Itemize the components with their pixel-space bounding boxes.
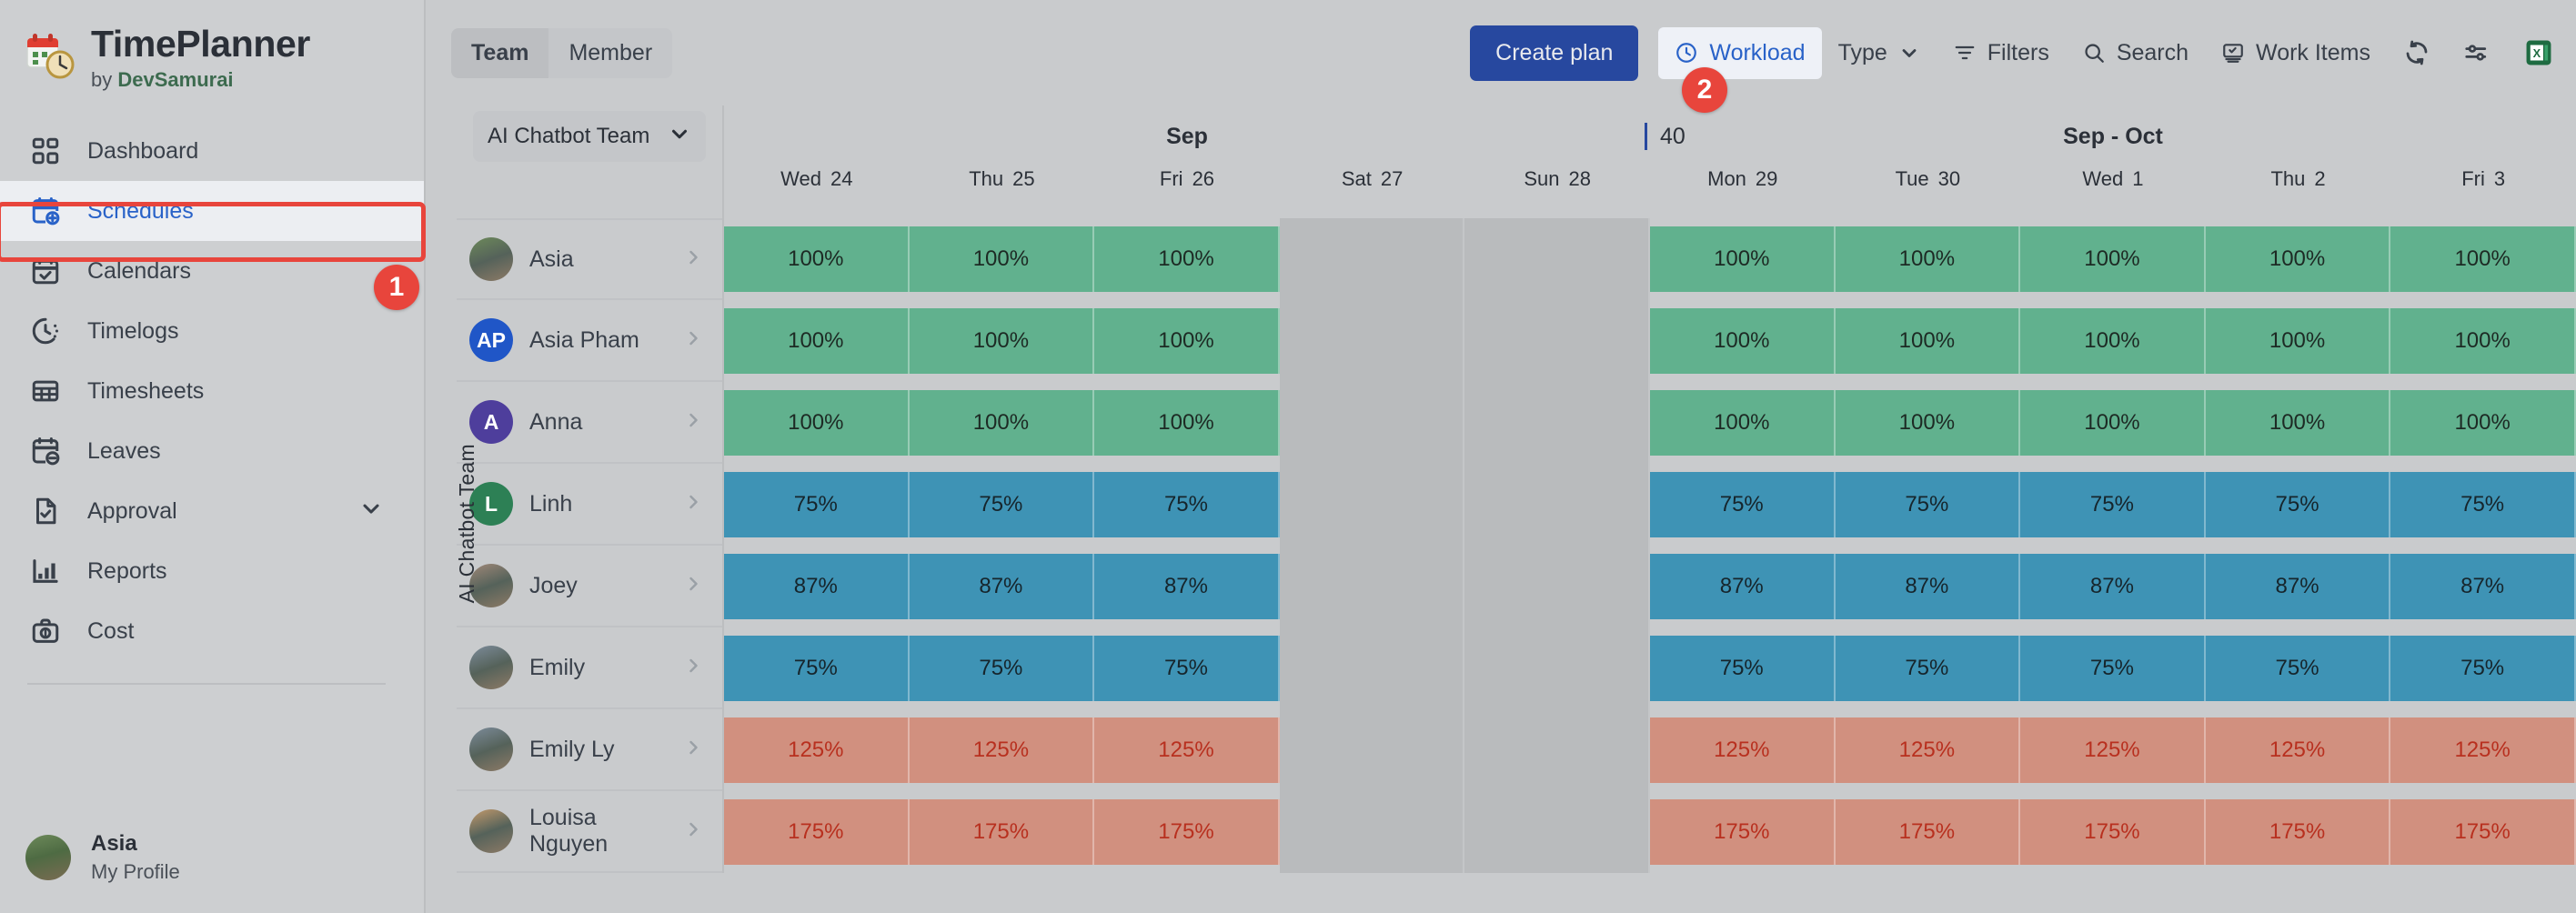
member-row[interactable]: APAsia Pham [457, 300, 722, 382]
filters-label: Filters [1987, 40, 2049, 66]
member-name: Emily [529, 655, 666, 681]
workload-cell[interactable]: 100% [2206, 308, 2391, 374]
work-items-label: Work Items [2256, 40, 2370, 66]
workload-cell[interactable] [1464, 791, 1650, 873]
workload-cell[interactable]: 75% [1650, 636, 1836, 701]
sidebar-item-label: Reports [87, 558, 167, 585]
member-row[interactable]: Emily [457, 627, 722, 709]
workload-cell[interactable]: 100% [2390, 226, 2576, 292]
workload-cell[interactable]: 75% [1836, 472, 2021, 537]
workload-cell[interactable] [1280, 791, 1465, 873]
workload-cell[interactable] [1280, 218, 1465, 300]
workload-cell[interactable]: 175% [2020, 799, 2206, 865]
workload-cell[interactable]: 87% [2390, 554, 2576, 619]
workload-cell[interactable]: 175% [910, 799, 1095, 865]
workload-row: 100%100%100%100%100%100%100%100% [724, 382, 2576, 464]
workload-cell[interactable]: 100% [2390, 308, 2576, 374]
sidebar-item-reports[interactable]: Reports [0, 541, 424, 601]
workload-cell[interactable]: 175% [1650, 799, 1836, 865]
workload-cell[interactable]: 100% [2390, 390, 2576, 456]
workload-cell[interactable] [1280, 627, 1465, 709]
months-header: SepSep - Oct 40 [724, 105, 2576, 167]
briefcase-dollar-icon [27, 613, 64, 649]
clock-icon [1675, 41, 1698, 65]
profile-role: My Profile [91, 860, 180, 884]
sidebar-item-calendars[interactable]: Calendars [0, 241, 424, 301]
table-icon [27, 373, 64, 409]
app-window: TimePlanner by DevSamurai Dashboard [0, 0, 2576, 913]
workload-cell[interactable]: 75% [2020, 636, 2206, 701]
chevron-right-icon[interactable] [682, 655, 704, 681]
create-plan-button[interactable]: Create plan [1470, 25, 1638, 81]
toolbar: Team Member Create plan Workload Type [426, 0, 2576, 105]
workload-cell[interactable]: 75% [2206, 472, 2391, 537]
type-dropdown[interactable]: Type [1822, 27, 1937, 79]
member-row[interactable]: Emily Ly [457, 709, 722, 791]
workload-cell[interactable]: 87% [724, 554, 910, 619]
workload-row: 75%75%75%75%75%75%75%75% [724, 627, 2576, 709]
filters-button[interactable]: Filters [1937, 27, 2066, 79]
workload-row: 175%175%175%175%175%175%175%175% [724, 791, 2576, 873]
workload-cell[interactable]: 75% [1650, 472, 1836, 537]
member-name: Asia [529, 246, 666, 273]
workload-cell[interactable] [1464, 300, 1650, 382]
member-name: Louisa Nguyen [529, 805, 666, 858]
chevron-down-icon [1898, 42, 1920, 64]
day-header: Tue30 [1836, 167, 2021, 218]
refresh-icon [2403, 39, 2430, 66]
chevron-right-icon[interactable] [682, 737, 704, 763]
chevron-right-icon[interactable] [682, 327, 704, 354]
workload-cell[interactable]: 75% [2206, 636, 2391, 701]
workload-cell[interactable]: 100% [1836, 308, 2021, 374]
workload-cell[interactable]: 87% [1094, 554, 1280, 619]
workload-cell[interactable]: 175% [2206, 799, 2391, 865]
sidebar-item-approval[interactable]: Approval [0, 481, 424, 541]
chevron-down-icon[interactable] [358, 496, 384, 527]
workload-cell[interactable]: 75% [1836, 636, 2021, 701]
week-number: 40 [1645, 123, 1685, 150]
profile-name: Asia [91, 831, 180, 857]
chevron-right-icon[interactable] [682, 573, 704, 599]
workload-cell[interactable]: 175% [1836, 799, 2021, 865]
workload-cell[interactable] [1280, 464, 1465, 546]
workload-cell[interactable]: 175% [2390, 799, 2576, 865]
week-number-label: 40 [1660, 124, 1685, 150]
workload-cell[interactable]: 75% [1094, 472, 1280, 537]
workload-cell[interactable] [1280, 300, 1465, 382]
sidebar-item-label: Approval [87, 498, 177, 525]
grid-icon [27, 133, 64, 169]
workload-row: 100%100%100%100%100%100%100%100% [724, 218, 2576, 300]
tab-member[interactable]: Member [548, 28, 672, 78]
sidebar-item-schedules[interactable]: Schedules [0, 181, 424, 241]
team-selector-cell: AI Chatbot Team [457, 105, 722, 167]
team-selector-value: AI Chatbot Team [488, 124, 668, 149]
avatar [469, 809, 513, 853]
day-header: Fri3 [2390, 167, 2576, 218]
workload-cell[interactable]: 125% [1094, 717, 1280, 783]
day-header: Sat27 [1280, 167, 1465, 218]
workload-cell[interactable] [1280, 546, 1465, 627]
workload-cell[interactable] [1464, 546, 1650, 627]
workload-row: 75%75%75%75%75%75%75%75% [724, 464, 2576, 546]
sidebar-item-leaves[interactable]: Leaves [0, 421, 424, 481]
month-label: Sep [724, 124, 1650, 150]
member-name: Joey [529, 573, 666, 599]
app-logo-icon [25, 31, 75, 80]
sidebar: TimePlanner by DevSamurai Dashboard [0, 0, 426, 913]
main-area: Team Member Create plan Workload Type [426, 0, 2576, 913]
workload-cell[interactable]: 87% [1650, 554, 1836, 619]
workload-cell[interactable]: 125% [724, 717, 910, 783]
workload-cell[interactable]: 100% [1094, 226, 1280, 292]
workload-cell[interactable]: 75% [724, 636, 910, 701]
chevron-right-icon[interactable] [682, 409, 704, 436]
timeline-column: SepSep - Oct 40 Wed24Thu25Fri26Sat27Sun2… [724, 105, 2576, 873]
sidebar-divider [27, 683, 386, 685]
member-name: Asia Pham [529, 327, 666, 354]
workload-cell[interactable] [1464, 382, 1650, 464]
document-check-icon [27, 493, 64, 529]
day-header: Thu25 [910, 167, 1095, 218]
tab-team[interactable]: Team [451, 28, 548, 78]
member-name: Linh [529, 491, 666, 517]
workload-cell[interactable] [1280, 709, 1465, 791]
toolbar-actions: Create plan Workload Type [1470, 25, 2554, 81]
avatar [25, 835, 71, 880]
workload-row: 100%100%100%100%100%100%100%100% [724, 300, 2576, 382]
workload-cell[interactable]: 75% [2390, 472, 2576, 537]
member-row[interactable]: LLinh [457, 464, 722, 546]
workload-cell[interactable]: 125% [2390, 717, 2576, 783]
member-name: Anna [529, 409, 666, 436]
week-divider [1645, 123, 1647, 150]
sidebar-item-timesheets[interactable]: Timesheets [0, 361, 424, 421]
member-row[interactable]: Louisa Nguyen [457, 791, 722, 873]
workload-button[interactable]: Workload [1658, 27, 1821, 79]
bar-chart-icon [27, 553, 64, 589]
workload-cell[interactable]: 100% [2206, 390, 2391, 456]
workload-cell[interactable]: 100% [1650, 226, 1836, 292]
days-header: Wed24Thu25Fri26Sat27Sun28Mon29Tue30Wed1T… [724, 167, 2576, 218]
workload-cell[interactable]: 100% [1650, 390, 1836, 456]
sidebar-profile[interactable]: Asia My Profile [0, 831, 180, 884]
sidebar-item-label: Timelogs [87, 318, 179, 345]
calendar-minus-icon [27, 433, 64, 469]
workload-cell[interactable]: 175% [724, 799, 910, 865]
workload-cell[interactable]: 100% [910, 226, 1095, 292]
svg-text:X: X [2533, 46, 2541, 60]
workload-cell[interactable]: 100% [1094, 390, 1280, 456]
annotation-badge-2: 2 [1682, 67, 1727, 113]
workload-cell[interactable]: 75% [2020, 472, 2206, 537]
calendar-check-icon [27, 253, 64, 289]
chevron-down-icon [668, 122, 691, 152]
chevron-right-icon[interactable] [682, 491, 704, 517]
app-subtitle: by DevSamurai [91, 70, 310, 90]
day-header: Wed24 [724, 167, 910, 218]
filter-icon [1953, 41, 1977, 65]
chevron-right-icon[interactable] [682, 246, 704, 273]
workload-label: Workload [1709, 40, 1805, 66]
workload-cell[interactable]: 125% [910, 717, 1095, 783]
type-label: Type [1838, 40, 1887, 66]
search-icon [2082, 41, 2106, 65]
annotation-badge-1: 1 [374, 265, 419, 310]
sidebar-item-label: Leaves [87, 438, 161, 465]
member-row[interactable]: AAnna [457, 382, 722, 464]
sidebar-item-timelogs[interactable]: Timelogs [0, 301, 424, 361]
workload-cell[interactable]: 100% [1650, 308, 1836, 374]
group-rail: AI Chatbot Team [451, 269, 482, 778]
workload-cell[interactable]: 100% [2020, 390, 2206, 456]
workload-cell[interactable]: 100% [910, 390, 1095, 456]
workload-cell[interactable]: 100% [724, 308, 910, 374]
workload-cell[interactable]: 75% [724, 472, 910, 537]
calendar-add-icon [27, 193, 64, 229]
search-button[interactable]: Search [2066, 27, 2205, 79]
workload-cell[interactable]: 100% [2020, 226, 2206, 292]
members-column: AI Chatbot Team AsiaAPAsia PhamAAnnaLLin… [457, 105, 724, 873]
sidebar-item-label: Calendars [87, 258, 191, 285]
workload-cell[interactable]: 87% [910, 554, 1095, 619]
workload-cell[interactable]: 125% [2206, 717, 2391, 783]
workload-cell[interactable]: 87% [2020, 554, 2206, 619]
chevron-right-icon[interactable] [682, 818, 704, 845]
workload-cell[interactable] [1464, 627, 1650, 709]
member-row[interactable]: Joey [457, 546, 722, 627]
workload-cell[interactable]: 87% [2206, 554, 2391, 619]
excel-icon: X [2523, 37, 2554, 68]
day-header: Wed1 [2020, 167, 2206, 218]
work-items-icon [2221, 41, 2245, 65]
workload-cell[interactable]: 75% [910, 636, 1095, 701]
workload-cell[interactable] [1464, 218, 1650, 300]
brand[interactable]: TimePlanner by DevSamurai [0, 0, 424, 90]
workload-cell[interactable]: 100% [1094, 308, 1280, 374]
export-excel-button[interactable]: X [2507, 25, 2554, 81]
workload-cell[interactable] [1280, 382, 1465, 464]
workload-cell[interactable]: 125% [1650, 717, 1836, 783]
workload-cell[interactable]: 175% [1094, 799, 1280, 865]
settings-button[interactable] [2447, 26, 2507, 79]
work-items-button[interactable]: Work Items [2205, 27, 2387, 79]
workload-cell[interactable]: 125% [2020, 717, 2206, 783]
workload-cell[interactable]: 75% [2390, 636, 2576, 701]
clock-dashed-icon [27, 313, 64, 349]
workload-cell[interactable] [1464, 709, 1650, 791]
days-header-spacer [457, 167, 722, 218]
workload-grid: AI Chatbot Team AI Chatbot Team [426, 105, 2576, 873]
team-selector[interactable]: AI Chatbot Team [473, 111, 706, 162]
day-header: Mon29 [1650, 167, 1836, 218]
sidebar-item-label: Cost [87, 618, 134, 645]
view-mode-segmented-control: Team Member [451, 28, 672, 78]
workload-cell[interactable]: 75% [910, 472, 1095, 537]
workload-cell[interactable]: 125% [1836, 717, 2021, 783]
member-name: Emily Ly [529, 737, 666, 763]
day-header: Sun28 [1464, 167, 1650, 218]
app-title: TimePlanner [91, 25, 310, 63]
workload-row: 87%87%87%87%87%87%87%87% [724, 546, 2576, 627]
workload-cell[interactable]: 100% [724, 390, 910, 456]
month-label: Sep - Oct [1650, 124, 2576, 150]
sidebar-item-label: Dashboard [87, 138, 198, 165]
sidebar-item-label: Timesheets [87, 378, 204, 405]
member-row[interactable]: Asia [457, 218, 722, 300]
sidebar-item-dashboard[interactable]: Dashboard [0, 121, 424, 181]
workload-cell[interactable]: 100% [2020, 308, 2206, 374]
refresh-button[interactable] [2387, 26, 2447, 79]
workload-cell[interactable]: 100% [724, 226, 910, 292]
search-label: Search [2117, 40, 2189, 66]
workload-cell[interactable] [1464, 464, 1650, 546]
workload-row: 125%125%125%125%125%125%125%125% [724, 709, 2576, 791]
sidebar-item-cost[interactable]: Cost [0, 601, 424, 661]
workload-cell[interactable]: 100% [1836, 390, 2021, 456]
workload-cell[interactable]: 100% [910, 308, 1095, 374]
workload-cell[interactable]: 100% [1836, 226, 2021, 292]
sidebar-item-label: Schedules [87, 198, 194, 225]
day-header: Thu2 [2206, 167, 2391, 218]
day-header: Fri26 [1094, 167, 1280, 218]
group-label: AI Chatbot Team [455, 444, 479, 603]
workload-cell[interactable]: 87% [1836, 554, 2021, 619]
sidebar-nav: Dashboard Schedules [0, 121, 424, 685]
sliders-icon [2463, 39, 2490, 66]
workload-cell[interactable]: 100% [2206, 226, 2391, 292]
workload-cell[interactable]: 75% [1094, 636, 1280, 701]
